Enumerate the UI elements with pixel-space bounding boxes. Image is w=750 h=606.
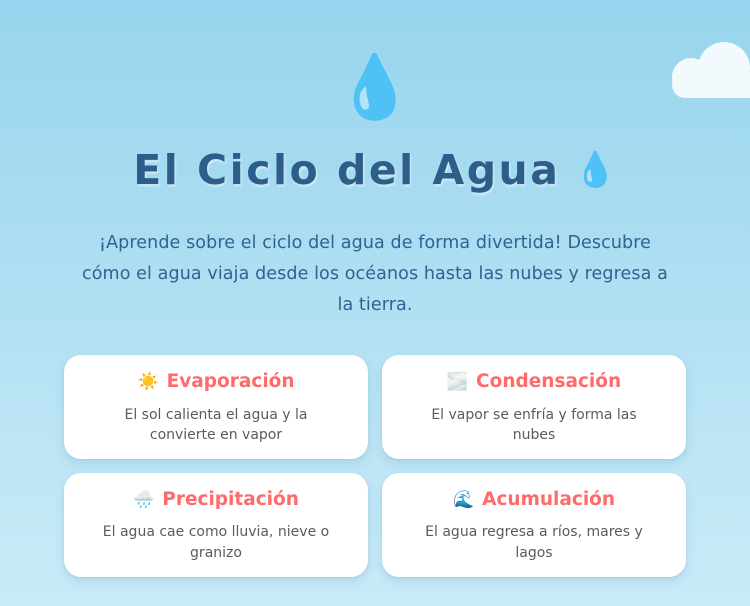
stage-card-title: Evaporación (167, 371, 295, 393)
page-subtitle: ¡Aprende sobre el ciclo del agua de form… (80, 228, 670, 321)
stage-card-title: Acumulación (482, 489, 615, 511)
stage-card-title-row: 🌧️ Precipitación (133, 489, 299, 511)
stage-card-acumulacion[interactable]: 🌊 Acumulación El agua regresa a ríos, ma… (382, 473, 686, 577)
stage-card-title: Condensación (476, 371, 621, 393)
title-water-drop-icon: 💧 (574, 150, 616, 190)
stage-card-condensacion[interactable]: 🌫️ Condensación El vapor se enfría y for… (382, 355, 686, 459)
water-cycle-stage-grid: ☀️ Evaporación El sol calienta el agua y… (64, 355, 686, 577)
rain-cloud-icon: 🌧️ (133, 492, 154, 509)
stage-card-evaporacion[interactable]: ☀️ Evaporación El sol calienta el agua y… (64, 355, 368, 459)
sun-icon: ☀️ (137, 374, 158, 391)
stage-card-title-row: ☀️ Evaporación (137, 371, 294, 393)
stage-card-description: El sol calienta el agua y la convierte e… (91, 405, 341, 446)
page-title-text: El Ciclo del Agua (133, 146, 560, 194)
stage-card-description: El agua regresa a ríos, mares y lagos (409, 522, 659, 563)
ocean-wave-icon: 🌊 (453, 492, 474, 509)
stage-card-description: El agua cae como lluvia, nieve o granizo (91, 522, 341, 563)
stage-card-title-row: 🌫️ Condensación (447, 371, 621, 393)
stage-card-title: Precipitación (162, 489, 299, 511)
stage-card-description: El vapor se enfría y forma las nubes (409, 405, 659, 446)
water-cycle-page: 💧 El Ciclo del Agua 💧 ¡Aprende sobre el … (0, 0, 750, 606)
hero-water-drop-icon: 💧 (336, 44, 413, 130)
page-title: El Ciclo del Agua 💧 (133, 146, 617, 194)
stage-card-precipitacion[interactable]: 🌧️ Precipitación El agua cae como lluvia… (64, 473, 368, 577)
cloud-fog-icon: 🌫️ (447, 374, 468, 391)
stage-card-title-row: 🌊 Acumulación (453, 489, 615, 511)
